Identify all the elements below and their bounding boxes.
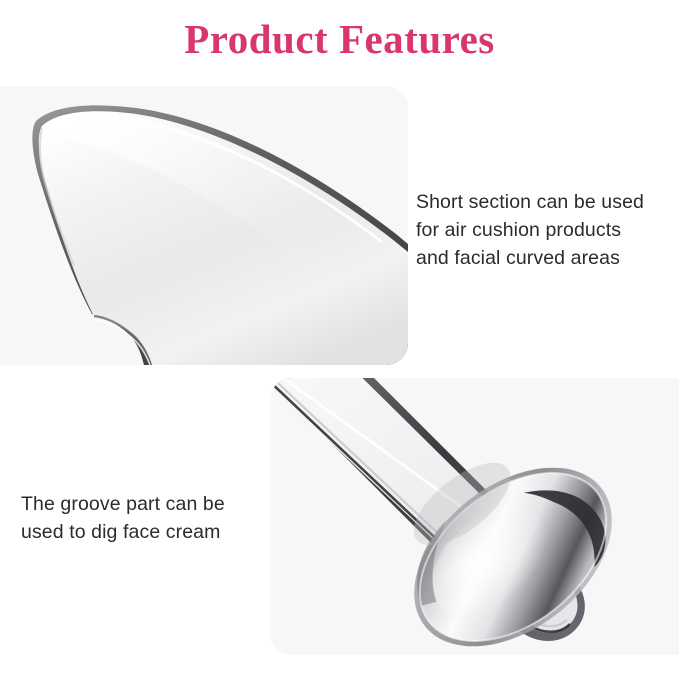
top-panel-caption: Short section can be used for air cushio… (416, 188, 668, 272)
bottom-panel-caption: The groove part can be used to dig face … (21, 490, 267, 546)
bottom-product-photo-panel (270, 378, 679, 655)
product-features-page: Product Features (0, 0, 679, 679)
spatula-wide-blade-illustration (0, 86, 408, 365)
top-product-photo-panel (0, 86, 408, 365)
spatula-groove-end-illustration (270, 378, 679, 655)
page-title: Product Features (0, 14, 679, 64)
